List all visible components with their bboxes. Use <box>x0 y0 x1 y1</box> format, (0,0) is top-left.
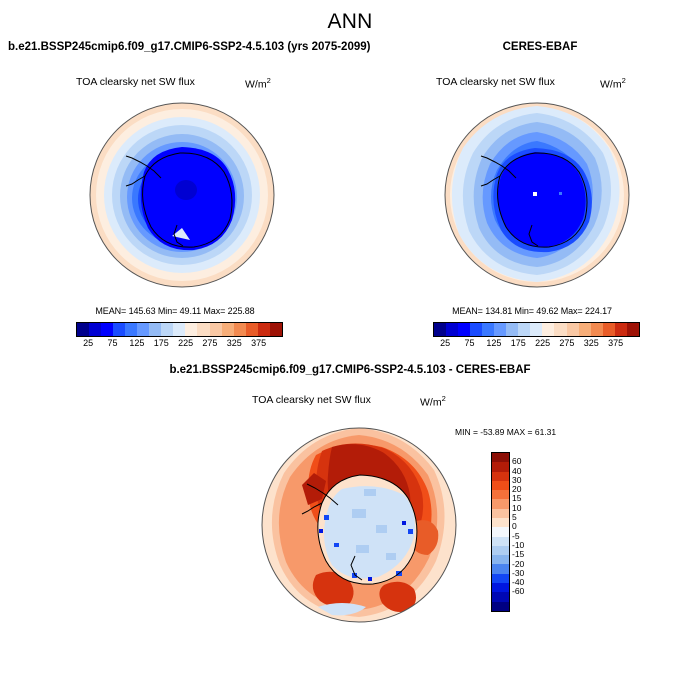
diff-map-svg <box>256 425 462 625</box>
colorbar-segment <box>518 323 530 336</box>
colorbar-tick: 25 <box>83 338 93 348</box>
obs-units-label: W/m2 <box>600 76 626 91</box>
colorbar-segment <box>161 323 173 336</box>
diff-minmax-label: MIN = -53.89 MAX = 61.31 <box>455 427 556 437</box>
diff-units-label: W/m2 <box>420 394 446 409</box>
obs-polar-map <box>437 100 637 290</box>
obs-stats: MEAN= 134.81 Min= 49.62 Max= 224.17 <box>412 306 652 316</box>
diff-colorbar[interactable] <box>491 452 510 612</box>
obs-map-svg <box>437 100 637 290</box>
colorbar-segment <box>470 323 482 336</box>
colorbar-segment <box>615 323 627 336</box>
colorbar-segment <box>434 323 446 336</box>
colorbar-segment <box>627 323 639 336</box>
diff-contour-field <box>256 425 462 625</box>
colorbar-segment <box>492 509 509 518</box>
colorbar-tick: 175 <box>154 338 169 348</box>
colorbar-segment <box>149 323 161 336</box>
colorbar-segment <box>567 323 579 336</box>
obs-colorbar-ticks: 2575125175225275325375 <box>433 338 638 352</box>
colorbar-segment <box>185 323 197 336</box>
colorbar-tick: 175 <box>511 338 526 348</box>
model-stats: MEAN= 145.63 Min= 49.11 Max= 225.88 <box>55 306 295 316</box>
colorbar-segment <box>222 323 234 336</box>
colorbar-segment <box>113 323 125 336</box>
diff-polar-map <box>256 425 462 625</box>
colorbar-segment <box>125 323 137 336</box>
colorbar-segment <box>492 453 509 462</box>
colorbar-segment <box>89 323 101 336</box>
colorbar-tick: 25 <box>440 338 450 348</box>
page-title: ANN <box>0 10 700 34</box>
colorbar-segment <box>492 546 509 555</box>
model-panel-header: b.e21.BSSP245cmip6.f09_g17.CMIP6-SSP2-4.… <box>8 41 370 53</box>
model-units-label: W/m2 <box>245 76 271 91</box>
colorbar-segment <box>246 323 258 336</box>
model-colorbar-ticks: 2575125175225275325375 <box>76 338 281 352</box>
units-exponent: 2 <box>622 76 626 85</box>
model-polar-map <box>82 100 282 290</box>
colorbar-segment <box>77 323 89 336</box>
obs-colorbar[interactable] <box>433 322 640 337</box>
colorbar-tick: 75 <box>465 338 475 348</box>
colorbar-tick: 275 <box>559 338 574 348</box>
model-contour-field <box>90 103 274 287</box>
colorbar-segment <box>492 518 509 527</box>
colorbar-segment <box>492 555 509 564</box>
colorbar-segment <box>579 323 591 336</box>
diff-panel-header: b.e21.BSSP245cmip6.f09_g17.CMIP6-SSP2-4.… <box>0 364 700 376</box>
colorbar-segment <box>506 323 518 336</box>
colorbar-segment <box>492 592 509 601</box>
colorbar-segment <box>197 323 209 336</box>
colorbar-tick: 375 <box>251 338 266 348</box>
colorbar-segment <box>492 583 509 592</box>
units-text: W/m <box>245 79 267 91</box>
colorbar-tick: 275 <box>202 338 217 348</box>
obs-map-caption: TOA clearsky net SW flux <box>436 76 555 88</box>
diff-colorbar-labels: 60403020151050-5-10-15-20-30-40-60 <box>512 452 552 610</box>
model-map-caption: TOA clearsky net SW flux <box>76 76 195 88</box>
colorbar-tick: -60 <box>512 586 524 596</box>
units-text: W/m <box>420 397 442 409</box>
colorbar-segment <box>530 323 542 336</box>
units-text: W/m <box>600 79 622 91</box>
colorbar-segment <box>603 323 615 336</box>
colorbar-segment <box>492 574 509 583</box>
colorbar-segment <box>270 323 282 336</box>
colorbar-segment <box>446 323 458 336</box>
colorbar-segment <box>101 323 113 336</box>
colorbar-tick: 225 <box>178 338 193 348</box>
colorbar-tick: 375 <box>608 338 623 348</box>
colorbar-segment <box>173 323 185 336</box>
colorbar-tick: 75 <box>108 338 118 348</box>
colorbar-segment <box>137 323 149 336</box>
colorbar-tick: 125 <box>129 338 144 348</box>
colorbar-segment <box>210 323 222 336</box>
colorbar-tick: 325 <box>584 338 599 348</box>
colorbar-segment <box>492 602 509 611</box>
colorbar-segment <box>234 323 246 336</box>
colorbar-segment <box>458 323 470 336</box>
diff-map-caption: TOA clearsky net SW flux <box>252 394 371 406</box>
colorbar-segment <box>492 537 509 546</box>
colorbar-segment <box>494 323 506 336</box>
colorbar-segment <box>591 323 603 336</box>
units-exponent: 2 <box>442 394 446 403</box>
colorbar-tick: 125 <box>486 338 501 348</box>
colorbar-segment <box>492 499 509 508</box>
model-map-svg <box>82 100 282 290</box>
colorbar-segment <box>492 472 509 481</box>
colorbar-segment <box>482 323 494 336</box>
units-exponent: 2 <box>267 76 271 85</box>
colorbar-segment <box>492 481 509 490</box>
colorbar-segment <box>554 323 566 336</box>
colorbar-segment <box>492 490 509 499</box>
model-colorbar[interactable] <box>76 322 283 337</box>
colorbar-segment <box>492 527 509 536</box>
colorbar-segment <box>258 323 270 336</box>
obs-panel-header: CERES-EBAF <box>400 41 680 53</box>
colorbar-tick: 225 <box>535 338 550 348</box>
colorbar-tick: 325 <box>227 338 242 348</box>
colorbar-segment <box>492 462 509 471</box>
obs-contour-field <box>445 103 629 287</box>
colorbar-segment <box>492 564 509 573</box>
colorbar-segment <box>542 323 554 336</box>
